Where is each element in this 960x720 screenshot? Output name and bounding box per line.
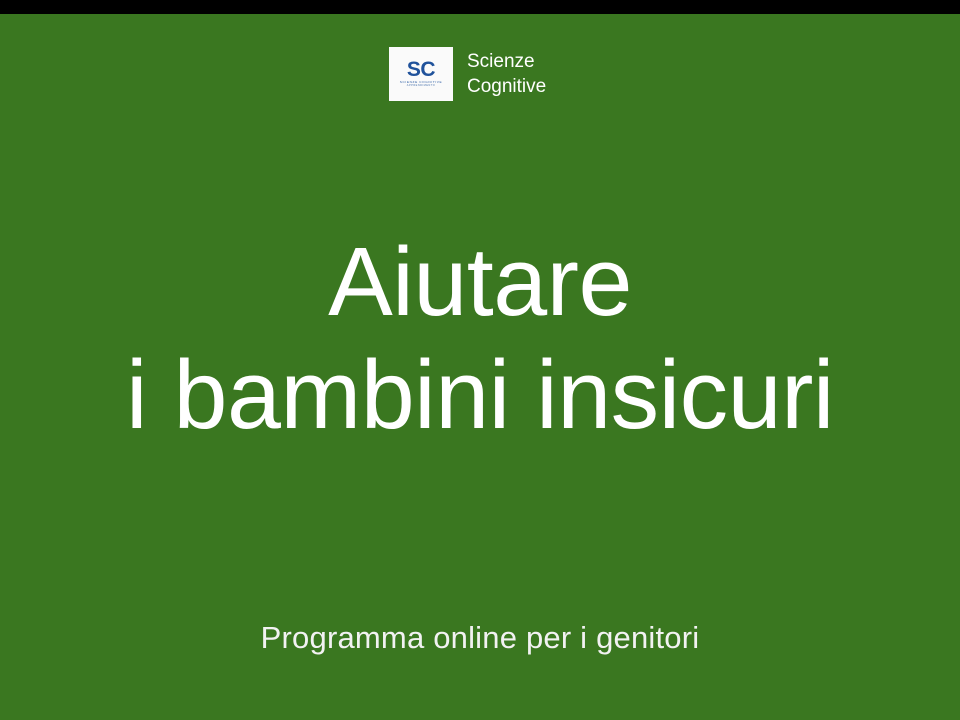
slide-title-line-1: Aiutare [0,226,960,339]
logo-microtext-line2: APPRENDIMENTO [407,85,435,89]
brand-wordmark: Scienze Cognitive [467,49,546,99]
brand-logo-lockup: SC SCIENZE COGNITIVE APPRENDIMENTO Scien… [389,47,546,101]
letterbox-bar-top [0,0,960,14]
slide-title: Aiutare i bambini insicuri [0,226,960,451]
scienze-cognitive-logo-icon: SC SCIENZE COGNITIVE APPRENDIMENTO [389,47,453,101]
slide-subtitle: Programma online per i genitori [0,618,960,658]
logo-monogram-text: SC [407,60,435,80]
slide-title-line-2: i bambini insicuri [0,339,960,452]
slide-canvas: SC SCIENZE COGNITIVE APPRENDIMENTO Scien… [0,14,960,720]
slide-root: SC SCIENZE COGNITIVE APPRENDIMENTO Scien… [0,0,960,720]
brand-name-line-2: Cognitive [467,74,546,99]
brand-name-line-1: Scienze [467,49,546,74]
